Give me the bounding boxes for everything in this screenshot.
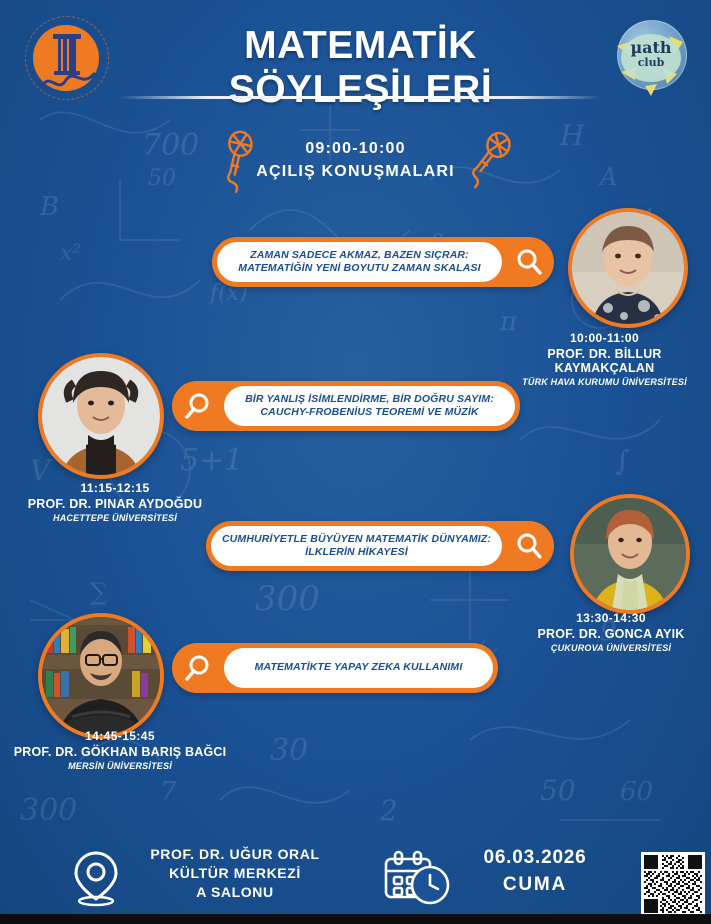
logo-wave-icon (40, 66, 96, 96)
speaker-caption-3: 13:30-14:30 PROF. DR. GONCA AYIK ÇUKUROV… (511, 611, 711, 653)
talk-pill-1-inner: ZAMAN SADECE AKMAZ, BAZEN SIÇRAR: MATEMA… (217, 242, 502, 282)
talk-pill-3-inner: CUMHURİYETLE BÜYÜYEN MATEMATİK DÜNYAMIZ:… (211, 526, 502, 566)
talk-title-4-line1: MATEMATİKTE YAPAY ZEKA KULLANIMI (255, 661, 463, 673)
speaker-photo-2 (38, 353, 164, 479)
opening-label: AÇILIŞ KONUŞMALARI (0, 163, 711, 181)
event-date: 06.03.2026 CUMA (450, 847, 620, 896)
talk-pill-3[interactable]: CUMHURİYETLE BÜYÜYEN MATEMATİK DÜNYAMIZ:… (206, 521, 554, 571)
speaker-caption-1: 10:00-11:00 PROF. DR. BİLLUR KAYMAKÇALAN… (498, 331, 711, 387)
mersin-universitesi-logo (24, 14, 110, 100)
speaker-caption-2: 11:15-12:15 PROF. DR. PINAR AYDOĞDU HACE… (0, 481, 230, 523)
svg-text:300: 300 (255, 579, 320, 619)
speaker-time-3: 13:30-14:30 (511, 611, 711, 625)
speaker-org-3: ÇUKUROVA ÜNİVERSİTESİ (511, 643, 711, 653)
search-icon-4[interactable] (173, 644, 221, 692)
svg-text:B: B (39, 192, 59, 222)
speaker-org-4: MERSİN ÜNİVERSİTESİ (0, 761, 240, 771)
svg-text:50: 50 (540, 774, 576, 807)
speaker-name-1: PROF. DR. BİLLUR KAYMAKÇALAN (498, 347, 711, 375)
talk-title-2-line2: CAUCHY-FROBENİUS TEOREMİ VE MÜZİK (260, 406, 478, 418)
opening-time: 09:00-10:00 (0, 140, 711, 158)
talk-title-4: MATEMATİKTE YAPAY ZEKA KULLANIMI (247, 661, 471, 674)
event-weekday: CUMA (450, 874, 620, 896)
qr-code-glyph (644, 855, 702, 913)
title-divider (120, 96, 600, 99)
speaker-org-2: HACETTEPE ÜNİVERSİTESİ (0, 513, 230, 523)
math-club-label: µath club (605, 40, 697, 68)
calendar-clock-icon (382, 849, 454, 907)
talk-pill-2[interactable]: BİR YANLIŞ İSİMLENDİRME, BİR DOĞRU SAYIM… (172, 381, 520, 431)
talk-pill-1[interactable]: ZAMAN SADECE AKMAZ, BAZEN SIÇRAR: MATEMA… (212, 237, 554, 287)
microphone-icon-right (463, 126, 521, 196)
math-club-logo: µath club (605, 10, 697, 102)
talk-title-3-line1: CUMHURİYETLE BÜYÜYEN MATEMATİK DÜNYAMIZ: (222, 533, 491, 545)
venue-address: PROF. DR. UĞUR ORAL KÜLTÜR MERKEZİ A SAL… (120, 845, 350, 902)
talk-title-3: CUMHURİYETLE BÜYÜYEN MATEMATİK DÜNYAMIZ:… (214, 533, 499, 560)
speaker-time-2: 11:15-12:15 (0, 481, 230, 495)
svg-text:2: 2 (379, 794, 398, 827)
svg-text:7: 7 (160, 777, 177, 807)
poster-footer: PROF. DR. UĞUR ORAL KÜLTÜR MERKEZİ A SAL… (0, 829, 711, 924)
poster-root: 700 50 B x² H A 4 5+1 π 300 1 ∑ 30 7 2 5… (0, 0, 711, 924)
map-pin-icon (70, 849, 122, 907)
speaker-time-1: 10:00-11:00 (498, 331, 711, 345)
speaker-caption-4: 14:45-15:45 PROF. DR. GÖKHAN BARIŞ BAĞCI… (0, 729, 240, 771)
talk-pill-2-inner: BİR YANLIŞ İSİMLENDİRME, BİR DOĞRU SAYIM… (224, 386, 515, 426)
math-club-subtitle: club (605, 57, 697, 69)
venue-line-1: PROF. DR. UĞUR ORAL (120, 845, 350, 864)
math-club-title: µath (605, 40, 697, 57)
speaker-photo-1 (568, 208, 688, 328)
talk-title-1-line2: MATEMATİĞİN YENİ BOYUTU ZAMAN SKALASI (238, 262, 480, 274)
speaker-name-4: PROF. DR. GÖKHAN BARIŞ BAĞCI (0, 745, 240, 759)
talk-title-2: BİR YANLIŞ İSİMLENDİRME, BİR DOĞRU SAYIM… (237, 393, 502, 420)
talk-pill-4-inner: MATEMATİKTE YAPAY ZEKA KULLANIMI (224, 648, 493, 688)
speaker-name-2: PROF. DR. PINAR AYDOĞDU (0, 497, 230, 511)
speaker-photo-4 (38, 613, 164, 739)
talk-title-2-line1: BİR YANLIŞ İSİMLENDİRME, BİR DOĞRU SAYIM… (245, 393, 494, 405)
search-icon-3[interactable] (505, 522, 553, 570)
svg-text:5+1: 5+1 (180, 443, 243, 478)
svg-text:∑: ∑ (90, 578, 107, 606)
search-icon-2[interactable] (173, 382, 221, 430)
qr-code[interactable] (641, 852, 705, 916)
search-icon-glyph-2 (182, 391, 212, 421)
search-icon-1[interactable] (505, 238, 553, 286)
event-date-value: 06.03.2026 (450, 847, 620, 869)
speaker-portrait-2 (42, 357, 160, 475)
speaker-photo-3 (570, 494, 690, 614)
talk-title-3-line2: İLKLERİN HİKAYESİ (305, 546, 408, 558)
speaker-name-3: PROF. DR. GONCA AYIK (511, 627, 711, 641)
poster-header: MATEMATİK SÖYLEŞİLERİ µath club (0, 0, 711, 112)
speaker-portrait-1 (572, 212, 684, 324)
venue-line-3: A SALONU (120, 883, 350, 902)
speaker-portrait-3 (574, 498, 686, 610)
speaker-portrait-4 (42, 617, 160, 735)
speaker-org-1: TÜRK HAVA KURUMU ÜNİVERSİTESİ (498, 377, 711, 387)
talk-title-1: ZAMAN SADECE AKMAZ, BAZEN SIÇRAR: MATEMA… (230, 249, 488, 276)
svg-text:300: 300 (20, 793, 77, 828)
svg-text:x²: x² (60, 241, 81, 266)
svg-text:∫: ∫ (615, 444, 630, 477)
opening-session: 09:00-10:00 AÇILIŞ KONUŞMALARI (0, 140, 711, 181)
svg-text:30: 30 (270, 733, 308, 768)
search-icon-glyph-1 (514, 247, 544, 277)
search-icon-glyph-4 (182, 653, 212, 683)
search-icon-glyph-3 (514, 531, 544, 561)
bottom-bar (0, 914, 711, 924)
venue-line-2: KÜLTÜR MERKEZİ (120, 864, 350, 883)
speaker-time-4: 14:45-15:45 (0, 729, 240, 743)
talk-title-1-line1: ZAMAN SADECE AKMAZ, BAZEN SIÇRAR: (250, 249, 469, 261)
svg-text:60: 60 (620, 777, 653, 807)
talk-pill-4[interactable]: MATEMATİKTE YAPAY ZEKA KULLANIMI (172, 643, 498, 693)
